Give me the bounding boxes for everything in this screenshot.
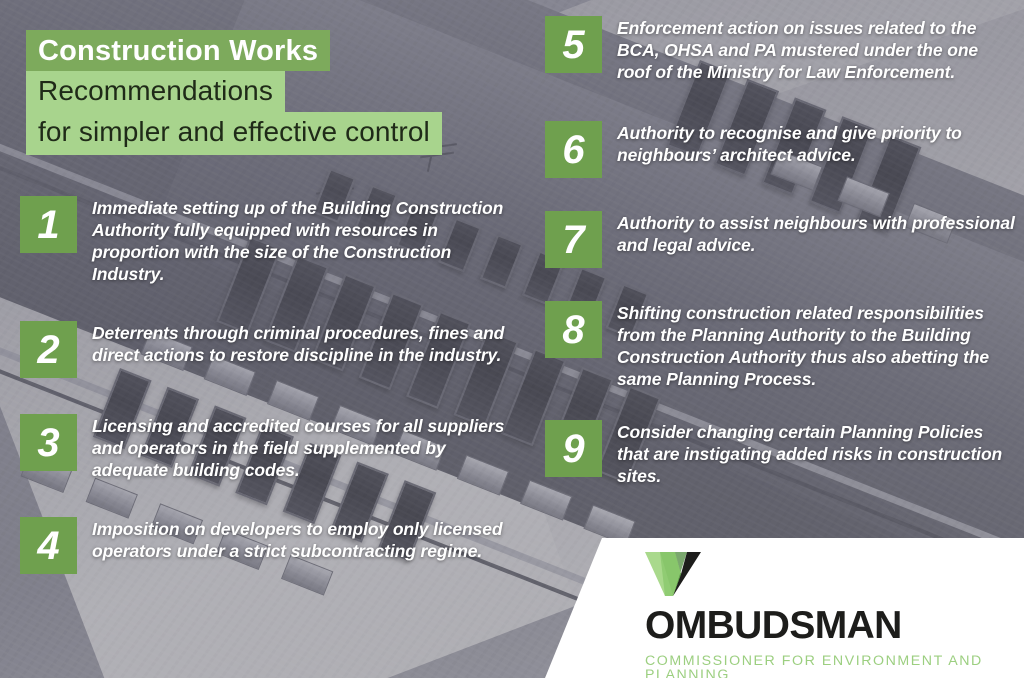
recommendation-text: Licensing and accredited courses for all… (92, 414, 520, 481)
recommendation-item: 4 Imposition on developers to employ onl… (20, 517, 520, 574)
title-line-secondary: Recommendations (26, 71, 285, 112)
recommendation-text: Consider changing certain Planning Polic… (617, 420, 1015, 487)
title-line-primary: Construction Works (26, 30, 330, 71)
recommendation-item: 7 Authority to assist neighbours with pr… (545, 211, 1015, 268)
recommendation-item: 1 Immediate setting up of the Building C… (20, 196, 520, 285)
recommendation-number-badge: 9 (545, 420, 602, 477)
title-line-tertiary: for simpler and effective control (26, 112, 442, 155)
recommendation-text: Shifting construction related responsibi… (617, 301, 1015, 390)
recommendation-number-badge: 3 (20, 414, 77, 471)
recommendation-text: Deterrents through criminal procedures, … (92, 321, 520, 366)
logo-group: OMBUDSMAN COMMISSIONER FOR ENVIRONMENT A… (645, 552, 1024, 678)
poster-title: Construction Works Recommendations for s… (26, 30, 442, 155)
recommendation-number-badge: 5 (545, 16, 602, 73)
recommendations-column-left: 1 Immediate setting up of the Building C… (20, 196, 520, 574)
recommendation-text: Enforcement action on issues related to … (617, 16, 1015, 83)
recommendation-item: 6 Authority to recognise and give priori… (545, 121, 1015, 178)
logo-wordmark: OMBUDSMAN (645, 606, 1024, 645)
recommendation-item: 5 Enforcement action on issues related t… (545, 16, 1015, 83)
recommendation-text: Immediate setting up of the Building Con… (92, 196, 520, 285)
recommendation-text: Authority to recognise and give priority… (617, 121, 1015, 166)
recommendation-number-badge: 4 (20, 517, 77, 574)
recommendation-text: Authority to assist neighbours with prof… (617, 211, 1015, 256)
recommendation-number-badge: 8 (545, 301, 602, 358)
recommendation-number-badge: 1 (20, 196, 77, 253)
ombudsman-chevron-icon (645, 552, 701, 596)
logo-subtitle: COMMISSIONER FOR ENVIRONMENT AND PLANNIN… (645, 654, 1024, 678)
recommendation-number-badge: 2 (20, 321, 77, 378)
recommendation-text: Imposition on developers to employ only … (92, 517, 520, 562)
recommendation-number-badge: 6 (545, 121, 602, 178)
recommendation-item: 8 Shifting construction related responsi… (545, 301, 1015, 390)
infographic-poster: Construction Works Recommendations for s… (0, 0, 1024, 678)
recommendation-number-badge: 7 (545, 211, 602, 268)
recommendation-item: 3 Licensing and accredited courses for a… (20, 414, 520, 481)
recommendation-item: 2 Deterrents through criminal procedures… (20, 321, 520, 378)
recommendations-column-right: 5 Enforcement action on issues related t… (545, 16, 1015, 487)
recommendation-item: 9 Consider changing certain Planning Pol… (545, 420, 1015, 487)
